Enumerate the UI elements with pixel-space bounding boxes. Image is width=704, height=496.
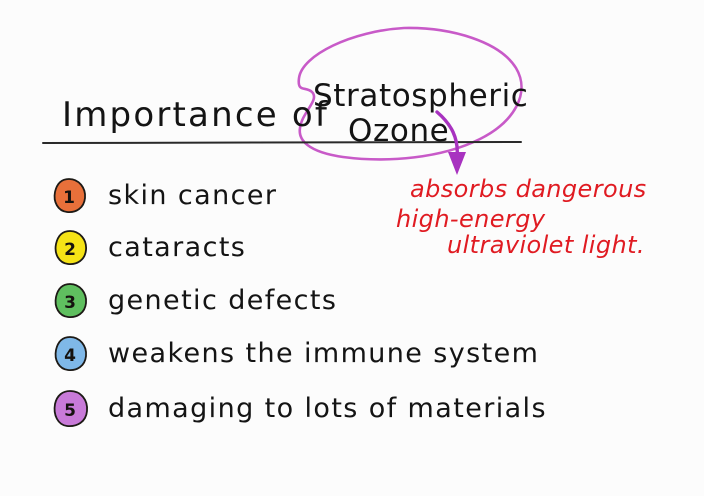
list-item-label-3: genetic defects <box>108 285 337 316</box>
red-annotation: absorbs dangerous high-energy ultraviole… <box>396 175 647 259</box>
list-item: 2 cataracts <box>56 231 247 264</box>
bullet-marker-5: 5 <box>55 391 88 426</box>
list-item-label-2: cataracts <box>108 232 246 263</box>
note-ink-canvas: Importance of Stratospheric Ozone absorb… <box>0 0 704 496</box>
heading-prefix: Importance of <box>62 95 329 135</box>
bullet-number-5: 5 <box>64 401 76 421</box>
list-item: 5 damaging to lots of materials <box>55 391 547 426</box>
bullet-marker-4: 4 <box>56 337 87 370</box>
heading-circled-line1: Stratospheric <box>313 78 528 114</box>
heading-circled-line2: Ozone <box>348 113 449 149</box>
annotation-line-2: high-energy <box>396 205 546 233</box>
list-item: 3 genetic defects <box>56 284 338 317</box>
bullet-marker-3: 3 <box>56 284 87 317</box>
heading-underline <box>43 142 521 143</box>
bullet-marker-1: 1 <box>55 179 86 212</box>
bullet-number-4: 4 <box>64 346 76 366</box>
annotation-line-1: absorbs dangerous <box>410 175 647 203</box>
list-item: 4 weakens the immune system <box>56 337 540 370</box>
bullet-number-3: 3 <box>64 293 76 313</box>
list-item-label-5: damaging to lots of materials <box>108 393 547 424</box>
list-item: 1 skin cancer <box>55 179 278 212</box>
list-item-label-1: skin cancer <box>108 180 277 211</box>
bullet-marker-2: 2 <box>56 231 87 264</box>
bullet-number-1: 1 <box>63 188 75 208</box>
bullet-number-2: 2 <box>64 240 76 260</box>
note-page: Importance of Stratospheric Ozone absorb… <box>0 0 704 496</box>
list-item-label-4: weakens the immune system <box>108 338 539 369</box>
annotation-line-3: ultraviolet light. <box>447 231 645 259</box>
